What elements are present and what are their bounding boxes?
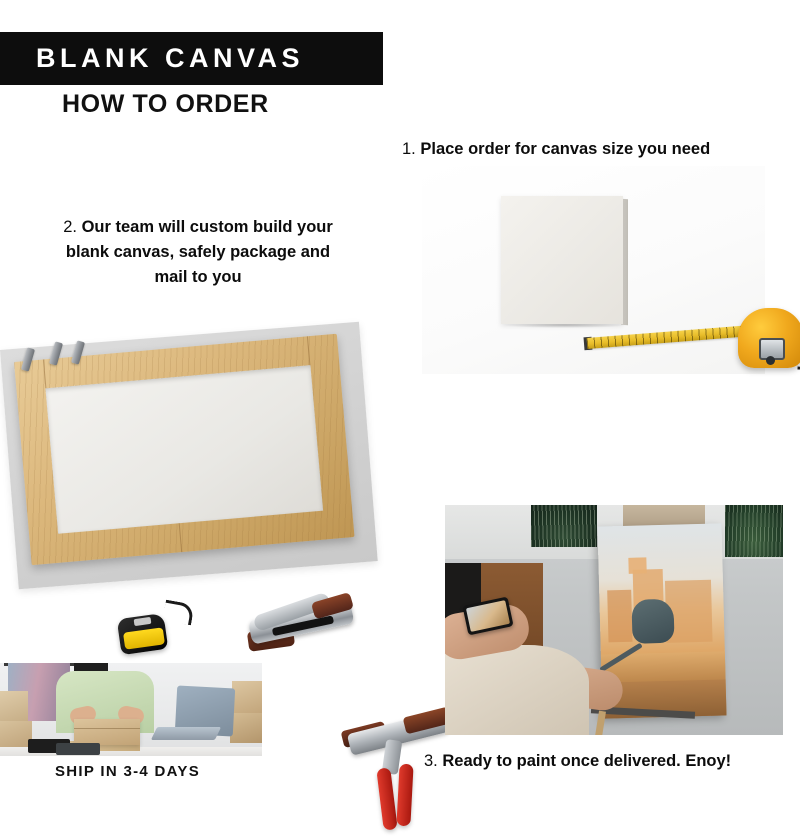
photo-blank-canvas-with-tape-measure (422, 166, 765, 374)
stretcher-frame (14, 334, 355, 565)
hanging-plant-left-icon (531, 505, 597, 547)
step-1-number: 1. (402, 140, 416, 158)
painted-building-1 (607, 590, 632, 643)
tape-lock-button (766, 356, 775, 365)
frame-canvas-opening (45, 365, 323, 534)
photo-wooden-stretcher-frame-with-tools (0, 296, 440, 608)
photo-artist-painting-on-easel (445, 505, 783, 735)
laptop-keyboard (151, 727, 221, 740)
step-3-number: 3. (424, 752, 438, 770)
step-1-text: Place order for canvas size you need (420, 140, 710, 158)
step-2-number: 2. (63, 218, 77, 236)
stacked-box-left-upper (0, 691, 28, 725)
title-bar: BLANK CANVAS (0, 32, 383, 85)
step-2-text: Our team will custom build your blank ca… (66, 218, 333, 286)
stacked-box-right-upper (232, 681, 262, 717)
pliers-handle-right (396, 764, 413, 827)
tape-measure-cord (162, 600, 194, 626)
hanging-plant-right-icon (725, 505, 783, 557)
canvas-pliers (340, 716, 450, 836)
infographic-page: BLANK CANVAS HOW TO ORDER 1. Place order… (0, 0, 800, 800)
stacked-box-right-lower (230, 713, 262, 743)
painted-roof (628, 557, 646, 573)
artist-sleeve (445, 645, 589, 735)
step-3-text: Ready to paint once delivered. Enoy! (442, 752, 731, 770)
pliers-handle-left (376, 767, 397, 830)
step-1-caption: 1. Place order for canvas size you need (402, 140, 710, 159)
painted-figure (631, 599, 674, 644)
notebook (56, 743, 100, 755)
photo-packing-box-at-desk (0, 663, 262, 756)
cardboard-shipping-box (74, 719, 140, 745)
staple-gun (246, 592, 358, 661)
step-3-caption: 3. Ready to paint once delivered. Enoy! (424, 752, 731, 771)
blank-canvas-front (501, 196, 623, 324)
shipping-time-label: SHIP IN 3-4 DAYS (55, 763, 200, 780)
page-title: BLANK CANVAS (36, 43, 304, 74)
step-2-caption: 2. Our team will custom build your blank… (50, 215, 346, 289)
page-subtitle: HOW TO ORDER (62, 90, 269, 119)
